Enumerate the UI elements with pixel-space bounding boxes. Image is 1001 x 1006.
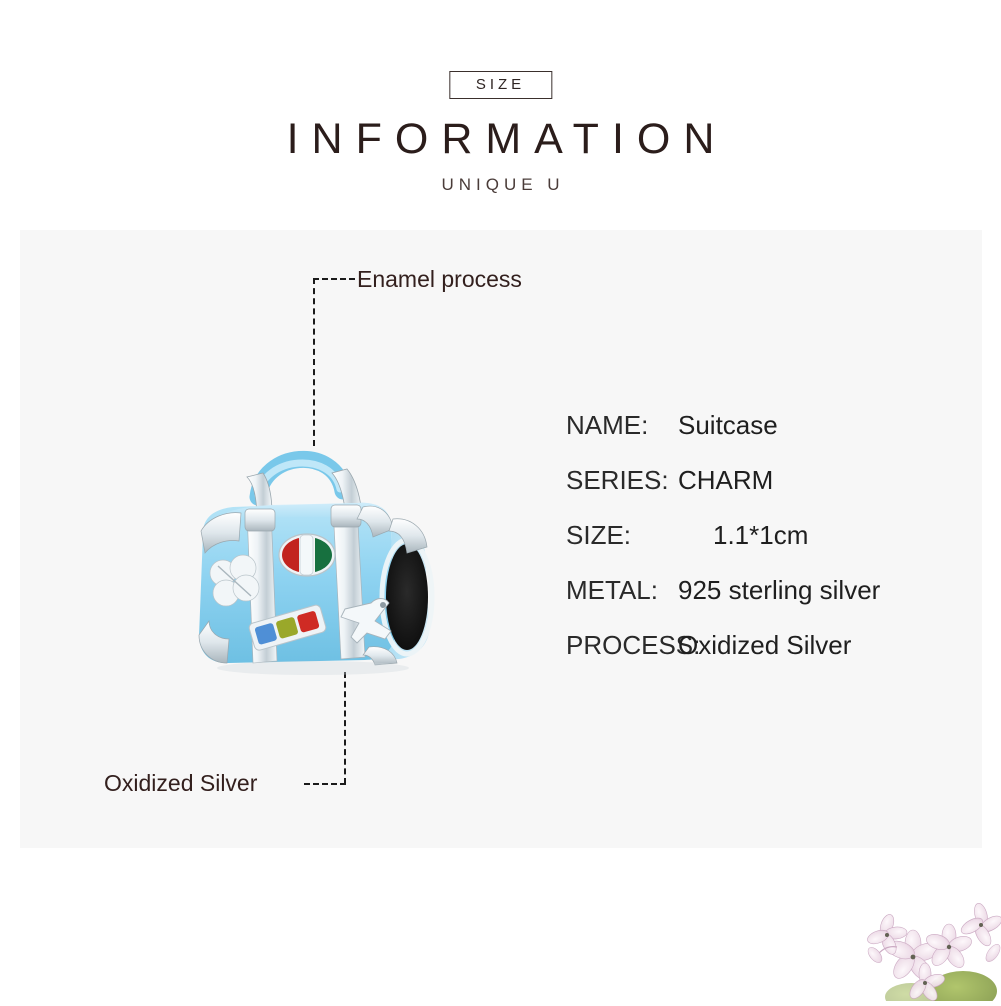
spec-row-process: PROCESS: Oxidized Silver xyxy=(566,632,966,687)
spec-value-metal: 925 sterling silver xyxy=(678,577,880,603)
charm-bead-hole xyxy=(382,540,432,654)
spec-row-name: NAME: Suitcase xyxy=(566,412,966,467)
charm-clover-sticker xyxy=(210,555,259,606)
spec-label-size: SIZE: xyxy=(566,522,678,548)
annotation-oxidized-silver: Oxidized Silver xyxy=(104,772,257,795)
charm-flag-sticker xyxy=(279,534,335,576)
spec-label-name: NAME: xyxy=(566,412,678,438)
spec-value-series: CHARM xyxy=(678,467,773,493)
leader-line-oxidized-vertical xyxy=(344,672,346,784)
charm-handle xyxy=(258,459,343,497)
page-subtitle: UNIQUE U xyxy=(436,176,564,193)
page-title: INFORMATION xyxy=(274,118,728,161)
leader-line-enamel-horizontal xyxy=(313,278,355,280)
spec-label-metal: METAL: xyxy=(566,577,678,603)
spec-row-series: SERIES: CHARM xyxy=(566,467,966,522)
product-info-page: SIZE INFORMATION UNIQUE U Enamel process… xyxy=(0,0,1001,1001)
spec-value-name: Suitcase xyxy=(678,412,778,438)
spec-value-process: Oxidized Silver xyxy=(678,632,851,658)
leader-line-enamel-vertical xyxy=(313,278,315,446)
spec-label-series: SERIES: xyxy=(566,467,678,493)
spec-row-size: SIZE: 1.1*1cm xyxy=(566,522,966,577)
leader-line-oxidized-horizontal xyxy=(304,783,346,785)
annotation-enamel-process: Enamel process xyxy=(357,268,522,291)
spec-row-metal: METAL: 925 sterling silver xyxy=(566,577,966,632)
specification-list: NAME: Suitcase SERIES: CHARM SIZE: 1.1*1… xyxy=(566,412,966,687)
size-badge: SIZE xyxy=(449,71,552,99)
flower-decoration xyxy=(851,891,1001,1001)
spec-value-size: 1.1*1cm xyxy=(678,522,808,548)
spec-label-process: PROCESS: xyxy=(566,632,678,658)
suitcase-charm-image xyxy=(185,425,445,675)
header: SIZE INFORMATION UNIQUE U xyxy=(0,0,1001,230)
